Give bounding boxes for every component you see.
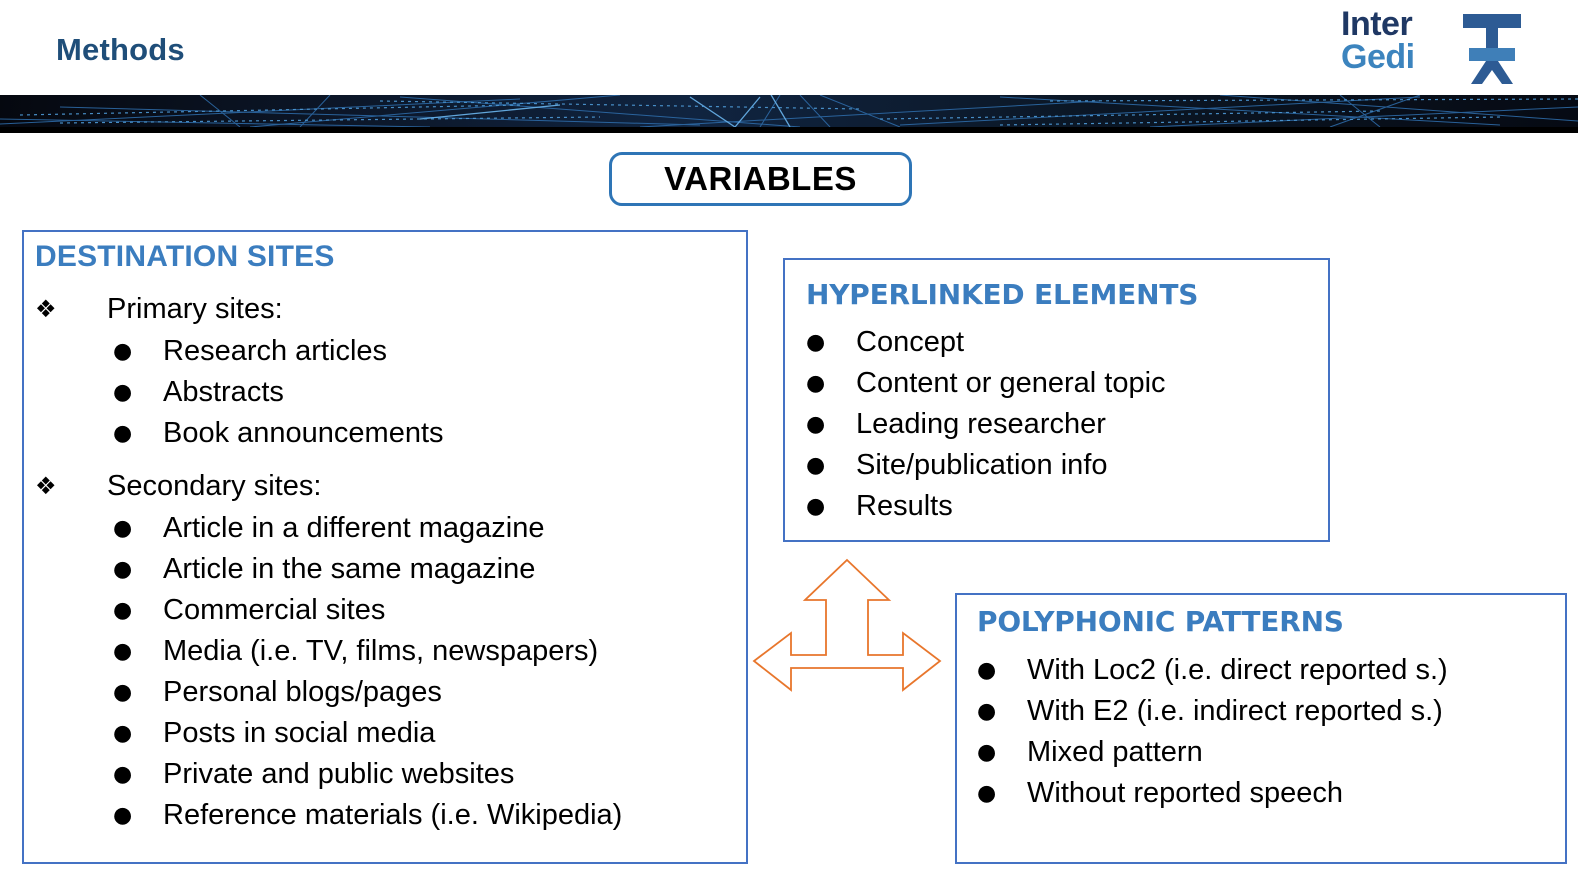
logo-word-gedi: Gedi [1341, 41, 1415, 74]
list-item: ● Reference materials (i.e. Wikipedia) [35, 795, 735, 836]
list-item: ● Leading researcher [806, 404, 1166, 445]
dot-bullet-icon: ● [806, 486, 825, 527]
list-item: ● With Loc2 (i.e. direct reported s.) [977, 650, 1448, 691]
dot-bullet-icon: ● [113, 413, 132, 454]
list-item-label: Posts in social media [163, 713, 435, 754]
three-way-arrow [751, 557, 943, 722]
polyphonic-patterns-list: ● With Loc2 (i.e. direct reported s.) ● … [977, 650, 1448, 814]
list-item: ● Private and public websites [35, 754, 735, 795]
dot-bullet-icon: ● [113, 754, 132, 795]
list-item-label: Content or general topic [856, 363, 1166, 404]
list-item: ● Research articles [35, 331, 735, 372]
list-item: ● Article in a different magazine [35, 508, 735, 549]
diamond-bullet-icon: ❖ [35, 465, 57, 508]
list-item: ● Book announcements [35, 413, 735, 454]
list-item: ● Article in the same magazine [35, 549, 735, 590]
dot-bullet-icon: ● [113, 713, 132, 754]
variables-badge: VARIABLES [609, 152, 912, 206]
group-label: Secondary sites: [107, 465, 321, 508]
group-label: Primary sites: [107, 288, 283, 331]
list-item-label: Mixed pattern [1027, 732, 1203, 773]
hyperlinked-elements-heading: HYPERLINKED ELEMENTS [806, 278, 1198, 311]
dot-bullet-icon: ● [113, 549, 132, 590]
list-item: ● Concept [806, 322, 1166, 363]
list-item: ● Personal blogs/pages [35, 672, 735, 713]
dot-bullet-icon: ● [113, 508, 132, 549]
list-item: ● Content or general topic [806, 363, 1166, 404]
dot-bullet-icon: ● [977, 773, 996, 814]
list-item-label: With E2 (i.e. indirect reported s.) [1027, 691, 1443, 732]
list-item: ● Without reported speech [977, 773, 1448, 814]
variables-badge-label: VARIABLES [664, 160, 857, 198]
list-item: ● Abstracts [35, 372, 735, 413]
polyphonic-patterns-panel: POLYPHONIC PATTERNS ● With Loc2 (i.e. di… [955, 593, 1567, 864]
logo-wordmark: Inter Gedi [1341, 8, 1415, 75]
dot-bullet-icon: ● [113, 372, 132, 413]
list-item-label: Commercial sites [163, 590, 385, 631]
page-title: Methods [56, 32, 185, 68]
destination-sites-heading: DESTINATION SITES [35, 240, 335, 274]
hyperlinked-elements-list: ● Concept ● Content or general topic ● L… [806, 322, 1166, 527]
list-item-label: Article in the same magazine [163, 549, 535, 590]
list-item-label: Reference materials (i.e. Wikipedia) [163, 795, 622, 836]
logo-word-inter: Inter [1341, 8, 1415, 41]
list-item: ● Mixed pattern [977, 732, 1448, 773]
list-item: ❖ Primary sites: [35, 288, 735, 331]
list-item-label: Private and public websites [163, 754, 514, 795]
intergedi-logo: Inter Gedi [1341, 8, 1526, 88]
list-item: ● Media (i.e. TV, films, newspapers) [35, 631, 735, 672]
list-item-label: Article in a different magazine [163, 508, 545, 549]
list-item-label: With Loc2 (i.e. direct reported s.) [1027, 650, 1448, 691]
list-item-label: Without reported speech [1027, 773, 1343, 814]
dot-bullet-icon: ● [977, 732, 996, 773]
dot-bullet-icon: ● [806, 322, 825, 363]
dot-bullet-icon: ● [806, 363, 825, 404]
banner-baseline [0, 127, 1578, 133]
list-item: ● Site/publication info [806, 445, 1166, 486]
diamond-bullet-icon: ❖ [35, 288, 57, 331]
list-item-label: Site/publication info [856, 445, 1108, 486]
list-item-label: Personal blogs/pages [163, 672, 442, 713]
list-item-label: Results [856, 486, 953, 527]
hyperlinked-elements-panel: HYPERLINKED ELEMENTS ● Concept ● Content… [783, 258, 1330, 542]
intergedi-figure-mark [1461, 12, 1523, 86]
dot-bullet-icon: ● [806, 404, 825, 445]
destination-sites-panel: DESTINATION SITES ❖ Primary sites: ● Res… [22, 230, 748, 864]
dot-bullet-icon: ● [806, 445, 825, 486]
list-item: ● Results [806, 486, 1166, 527]
dot-bullet-icon: ● [977, 650, 996, 691]
dot-bullet-icon: ● [113, 590, 132, 631]
list-item: ● With E2 (i.e. indirect reported s.) [977, 691, 1448, 732]
list-item-label: Abstracts [163, 372, 284, 413]
dot-bullet-icon: ● [113, 672, 132, 713]
list-item-label: Leading researcher [856, 404, 1106, 445]
destination-sites-list: ❖ Primary sites: ● Research articles ● A… [35, 288, 735, 836]
polyphonic-patterns-heading: POLYPHONIC PATTERNS [977, 605, 1344, 638]
list-item: ❖ Secondary sites: [35, 465, 735, 508]
dot-bullet-icon: ● [113, 795, 132, 836]
list-item: ● Commercial sites [35, 590, 735, 631]
list-item: ● Posts in social media [35, 713, 735, 754]
dot-bullet-icon: ● [113, 331, 132, 372]
decorative-network-banner [0, 95, 1578, 127]
dot-bullet-icon: ● [113, 631, 132, 672]
network-lines [0, 95, 1578, 127]
list-item-label: Concept [856, 322, 964, 363]
list-item-label: Research articles [163, 331, 387, 372]
list-item-label: Book announcements [163, 413, 444, 454]
dot-bullet-icon: ● [977, 691, 996, 732]
list-item-label: Media (i.e. TV, films, newspapers) [163, 631, 598, 672]
